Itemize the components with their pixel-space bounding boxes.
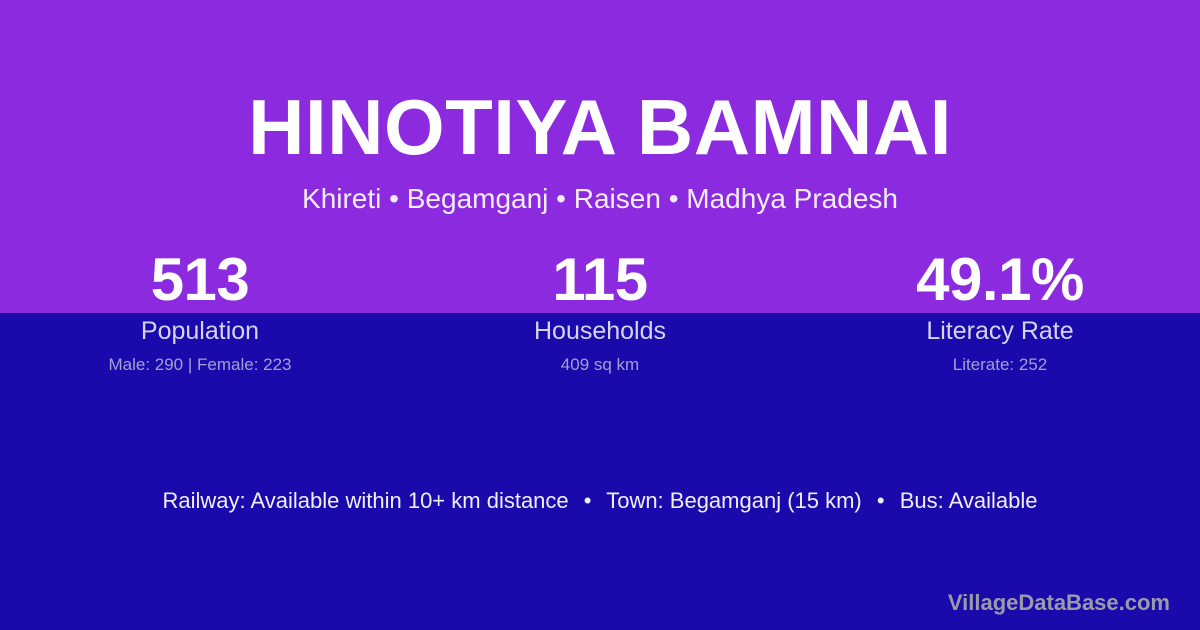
amenities-info-line: Railway: Available within 10+ km distanc… <box>0 487 1200 515</box>
stat-population-value: 513 <box>0 248 400 312</box>
stat-households-sub: 409 sq km <box>400 354 800 375</box>
stat-households: 115 Households 409 sq km <box>400 248 800 375</box>
stat-population-sub: Male: 290 | Female: 223 <box>0 354 400 375</box>
site-watermark: VillageDataBase.com <box>948 589 1170 617</box>
info-bus: Bus: Available <box>900 488 1038 513</box>
page-title: HINOTIYA BAMNAI <box>0 83 1200 171</box>
stat-households-value: 115 <box>400 248 800 312</box>
stat-households-label: Households <box>400 316 800 346</box>
info-railway: Railway: Available within 10+ km distanc… <box>162 488 568 513</box>
stat-population-label: Population <box>0 316 400 346</box>
info-separator-2: • <box>868 487 894 515</box>
info-separator-1: • <box>575 487 601 515</box>
stats-row: 513 Population Male: 290 | Female: 223 1… <box>0 248 1200 375</box>
stat-literacy-rate-label: Literacy Rate <box>800 316 1200 346</box>
info-town: Town: Begamganj (15 km) <box>606 488 862 513</box>
village-summary-card: HINOTIYA BAMNAI Khireti • Begamganj • Ra… <box>0 0 1200 630</box>
location-breadcrumb: Khireti • Begamganj • Raisen • Madhya Pr… <box>0 182 1200 216</box>
stat-literacy-rate: 49.1% Literacy Rate Literate: 252 <box>800 248 1200 375</box>
stat-population: 513 Population Male: 290 | Female: 223 <box>0 248 400 375</box>
stat-literacy-rate-value: 49.1% <box>800 248 1200 312</box>
stat-literacy-rate-sub: Literate: 252 <box>800 354 1200 375</box>
